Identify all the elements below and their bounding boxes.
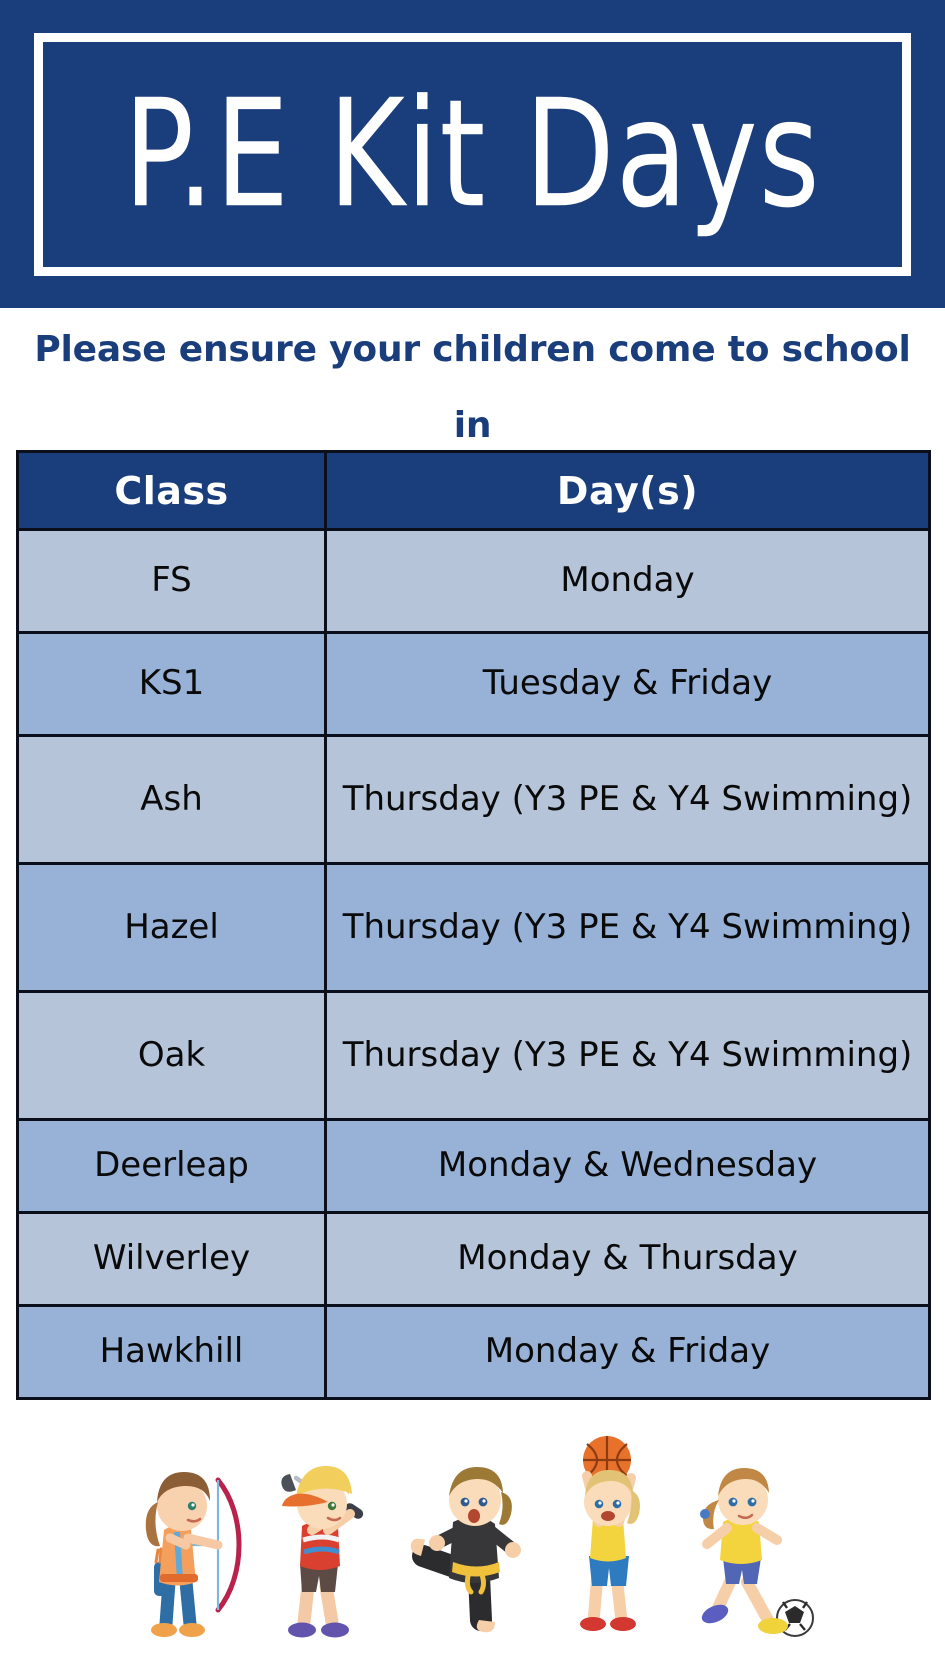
basketball-boy-illustration (549, 1434, 669, 1644)
title-banner: P.E Kit Days (0, 0, 945, 308)
cell-days: Monday (326, 530, 930, 633)
pe-kit-days-table: Class Day(s) FS Monday KS1 Tuesday & Fri… (16, 450, 931, 1400)
cell-days: Thursday (Y3 PE & Y4 Swimming) (326, 992, 930, 1120)
cell-class: Hawkhill (18, 1306, 326, 1399)
cell-days: Thursday (Y3 PE & Y4 Swimming) (326, 736, 930, 864)
page-title: P.E Kit Days (124, 80, 821, 229)
cell-days: Thursday (Y3 PE & Y4 Swimming) (326, 864, 930, 992)
subtitle-line-1: Please ensure your children come to scho… (24, 312, 921, 464)
cell-days: Monday & Friday (326, 1306, 930, 1399)
table-row: FS Monday (18, 530, 930, 633)
cell-class: Wilverley (18, 1213, 326, 1306)
cell-days: Monday & Wednesday (326, 1120, 930, 1213)
archery-girl-illustration (122, 1444, 252, 1644)
cell-class: KS1 (18, 633, 326, 736)
table-row: Oak Thursday (Y3 PE & Y4 Swimming) (18, 992, 930, 1120)
cell-class: Deerleap (18, 1120, 326, 1213)
cell-days: Tuesday & Friday (326, 633, 930, 736)
table-header: Class Day(s) (18, 452, 930, 530)
golf-boy-illustration (256, 1444, 391, 1644)
table-row: Deerleap Monday & Wednesday (18, 1120, 930, 1213)
table-body: FS Monday KS1 Tuesday & Friday Ash Thurs… (18, 530, 930, 1399)
table-row: Wilverley Monday & Thursday (18, 1213, 930, 1306)
table-header-row: Class Day(s) (18, 452, 930, 530)
table-row: KS1 Tuesday & Friday (18, 633, 930, 736)
cell-class: Hazel (18, 864, 326, 992)
table-row: Hawkhill Monday & Friday (18, 1306, 930, 1399)
column-header-days: Day(s) (326, 452, 930, 530)
cell-class: Oak (18, 992, 326, 1120)
football-girl-illustration (673, 1444, 823, 1644)
column-header-class: Class (18, 452, 326, 530)
cell-class: Ash (18, 736, 326, 864)
cell-class: FS (18, 530, 326, 633)
karate-boy-illustration (395, 1444, 545, 1644)
title-banner-frame: P.E Kit Days (34, 33, 911, 276)
table-row: Hazel Thursday (Y3 PE & Y4 Swimming) (18, 864, 930, 992)
pe-kit-days-poster: P.E Kit Days Please ensure your children… (0, 0, 945, 1654)
table-row: Ash Thursday (Y3 PE & Y4 Swimming) (18, 736, 930, 864)
sports-kids-illustration-strip (0, 1400, 945, 1654)
cell-days: Monday & Thursday (326, 1213, 930, 1306)
